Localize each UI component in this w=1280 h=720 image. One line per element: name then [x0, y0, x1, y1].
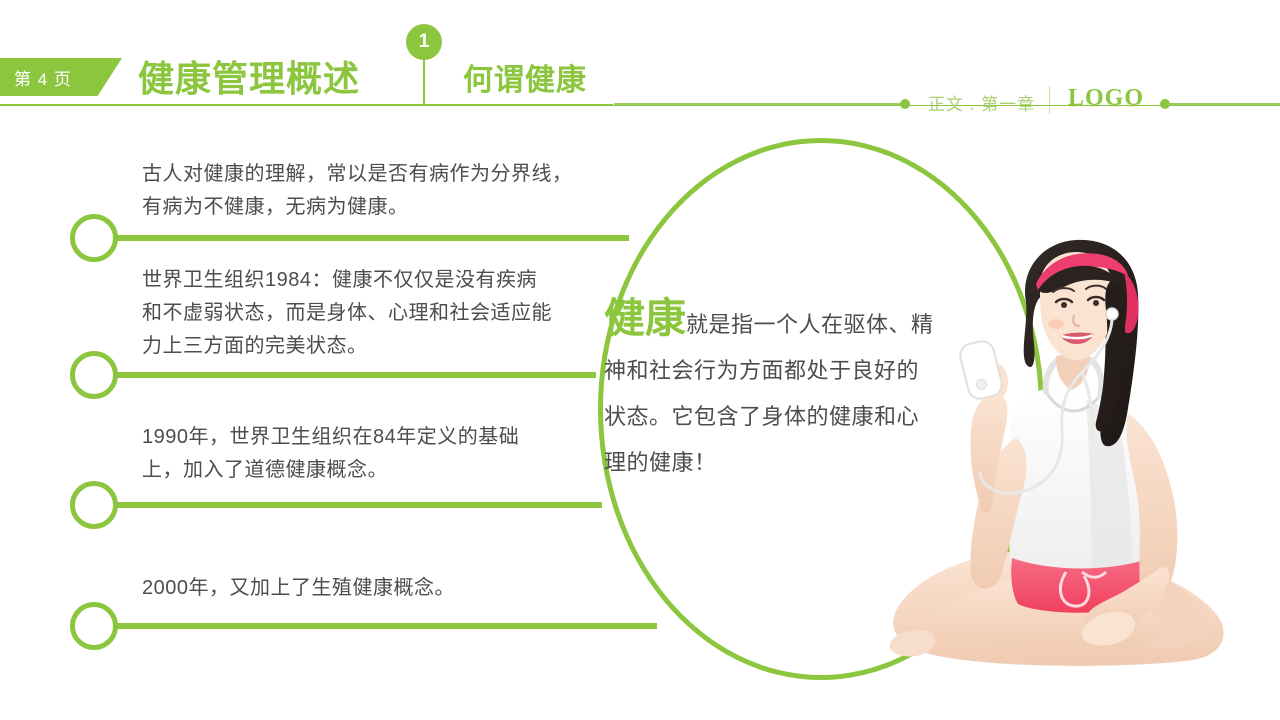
header-right-connector-line: [1168, 103, 1280, 105]
logo-reflection: LOGO: [1068, 90, 1144, 110]
bullet-text-2: 世界卫生组织1984：健康不仅仅是没有疾病和不虚弱状态，而是身体、心理和社会适应…: [142, 264, 554, 363]
bullet-connector-line-2: [104, 372, 596, 378]
bullet-marker-2[interactable]: [70, 351, 118, 399]
bullet-connector-line-3: [104, 502, 602, 508]
bullet-marker-1[interactable]: [70, 214, 118, 262]
chapter-label: 正文 . 第一章: [928, 90, 1035, 115]
section-number-stem: [423, 58, 425, 106]
bullet-connector-line-4: [104, 623, 657, 629]
bullet-marker-4[interactable]: [70, 602, 118, 650]
slide-canvas: 第 4 页 健康管理概述 1 何谓健康 正文 . 第一章 LOGO LOGO 古…: [0, 0, 1280, 720]
bullet-text-4: 2000年，又加上了生殖健康概念。: [142, 572, 582, 605]
header-left-dot: [900, 99, 910, 109]
bullet-connector-line-1: [104, 235, 629, 241]
header-left-connector-line: [614, 103, 906, 105]
bullet-marker-3[interactable]: [70, 481, 118, 529]
bullet-text-3: 1990年，世界卫生组织在84年定义的基础上，加入了道德健康概念。: [142, 421, 548, 487]
bullet-text-1: 古人对健康的理解，常以是否有病作为分界线，有病为不健康，无病为健康。: [142, 158, 592, 224]
page-number-label: 第 4 页: [0, 65, 72, 90]
definition-keyword: 健康: [604, 295, 686, 341]
definition-paragraph: 健康就是指一个人在驱体、精神和社会行为方面都处于良好的状态。它包含了身体的健康和…: [604, 295, 940, 486]
header-vertical-divider: [1049, 86, 1050, 114]
page-title: 健康管理概述: [138, 50, 360, 102]
page-number-badge: 第 4 页: [0, 58, 122, 96]
section-number-badge: 1: [406, 24, 442, 60]
section-subtitle: 何谓健康: [463, 55, 587, 99]
